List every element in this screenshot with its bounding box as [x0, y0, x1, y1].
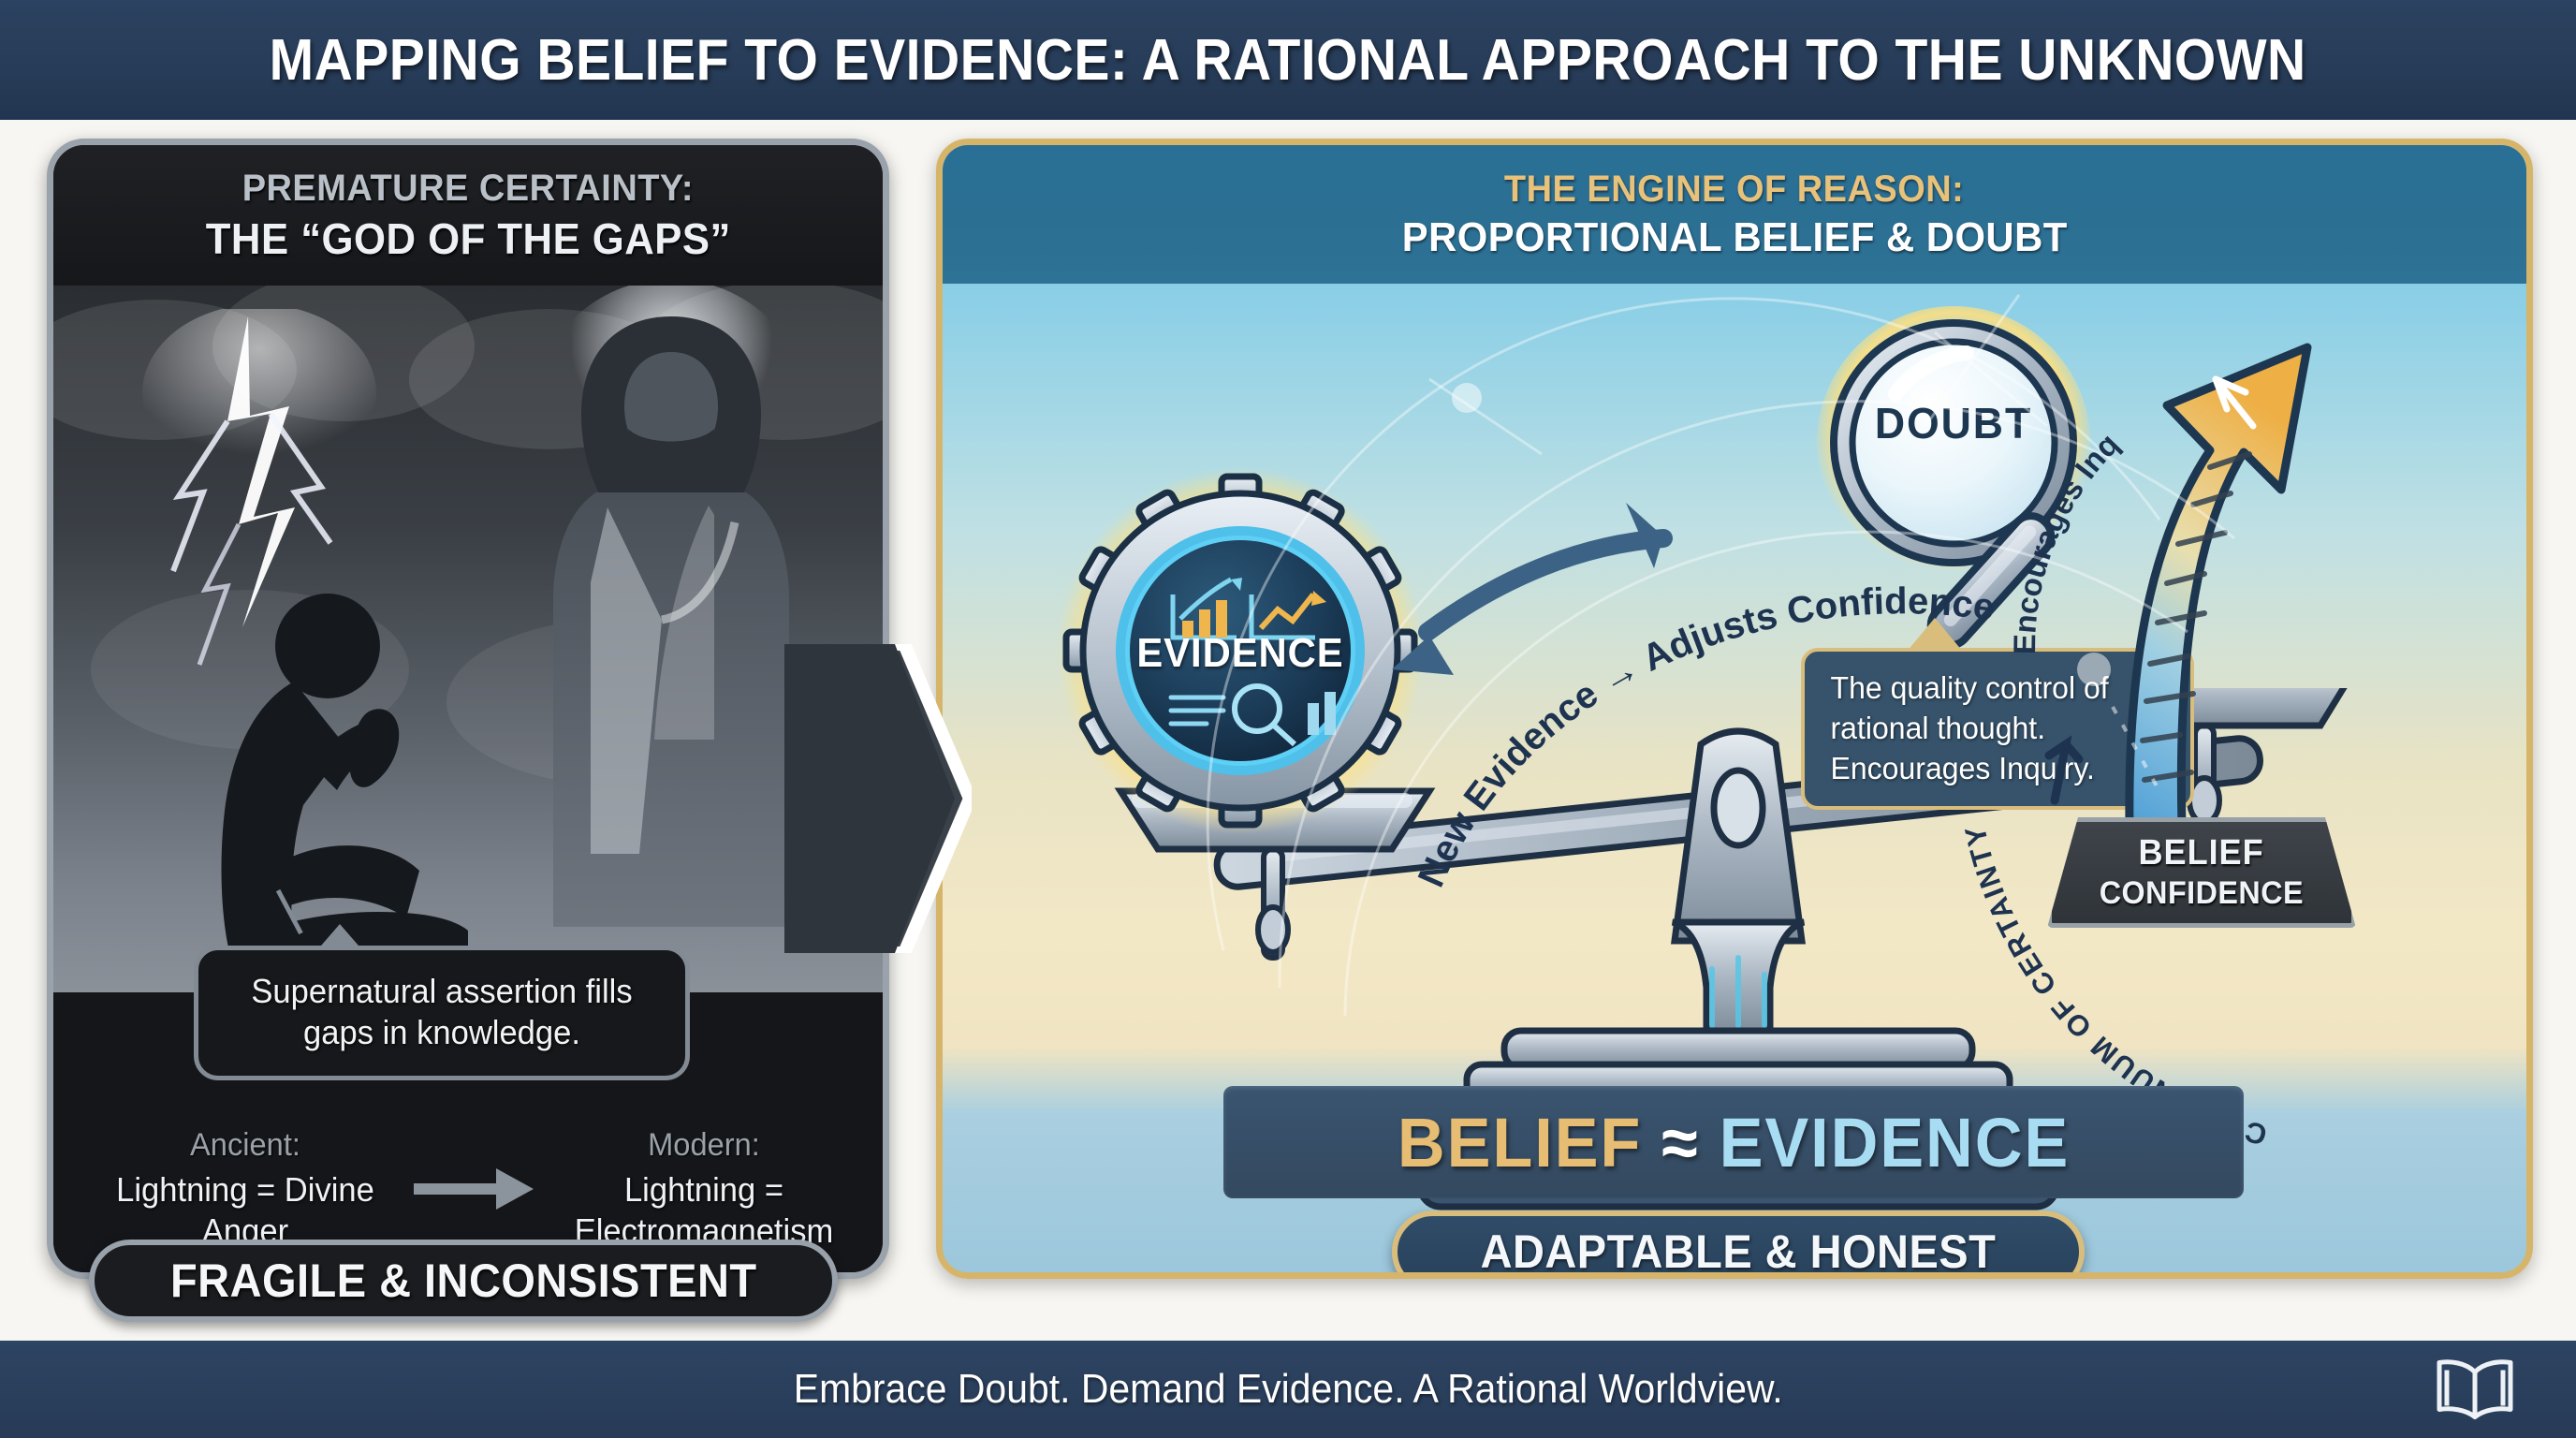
evidence-node[interactable]: EVIDENCE — [1053, 463, 1427, 838]
belief-gauge-line1: BELIEF — [2139, 833, 2264, 873]
left-panel-heading: PREMATURE CERTAINTY: THE “GOD OF THE GAP… — [53, 145, 883, 286]
transition-arrow-icon — [784, 644, 972, 953]
left-panel-scene — [53, 281, 883, 992]
doubt-caption-tail — [1907, 618, 1963, 652]
right-panel-heading: THE ENGINE OF REASON: PROPORTIONAL BELIE… — [943, 145, 2526, 284]
callout-text: Supernatural assertion fills gaps in kno… — [231, 971, 651, 1053]
belief-gauge-line2: CONFIDENCE — [2100, 875, 2304, 912]
equation-left: BELIEF — [1398, 1104, 1642, 1181]
left-panel-badge-label: FRAGILE & INCONSISTENT — [170, 1254, 757, 1308]
right-arrow-icon — [414, 1163, 535, 1215]
left-panel-heading-line2: THE “GOD OF THE GAPS” — [205, 213, 730, 264]
comparison-arrow — [409, 1163, 540, 1215]
right-panel-badge-label: ADAPTABLE & HONEST — [1481, 1225, 1997, 1279]
belief-confidence-gauge: BELIEF CONFIDENCE — [2047, 817, 2356, 928]
right-panel-heading-line1: THE ENGINE OF REASON: — [1504, 169, 1964, 211]
ancient-value: Lightning = Divine Anger — [97, 1169, 394, 1250]
page-header: MAPPING BELIEF TO EVIDENCE: A RATIONAL A… — [0, 0, 2576, 120]
right-panel-engine-of-reason: New Evidence → Adjusts Confidence Encour… — [936, 139, 2533, 1279]
right-panel-badge: ADAPTABLE & HONEST — [1392, 1211, 2085, 1279]
left-panel-badge: FRAGILE & INCONSISTENT — [89, 1240, 838, 1322]
ancient-column: Ancient: Lightning = Divine Anger — [91, 1127, 400, 1250]
equation-text: BELIEF≈EVIDENCE — [1398, 1103, 2070, 1182]
belief-equals-evidence-plate: BELIEF≈EVIDENCE — [1223, 1086, 2244, 1198]
modern-label: Modern: — [556, 1127, 853, 1164]
modern-value: Lightning = Electromagnetism — [556, 1169, 853, 1250]
page-footer: Embrace Doubt. Demand Evidence. A Ration… — [0, 1341, 2576, 1438]
equation-symbol: ≈ — [1661, 1104, 1699, 1181]
upward-gradient-arrow-icon — [2027, 293, 2401, 855]
footer-tagline: Embrace Doubt. Demand Evidence. A Ration… — [794, 1366, 1783, 1413]
open-book-icon — [2430, 1352, 2520, 1428]
page-title: MAPPING BELIEF TO EVIDENCE: A RATIONAL A… — [270, 27, 2306, 94]
modern-column: Modern: Lightning = Electromagnetism — [549, 1127, 858, 1250]
right-panel-heading-line2: PROPORTIONAL BELIEF & DOUBT — [1401, 214, 2067, 261]
bidirectional-arrow-icon — [1392, 503, 1663, 675]
gear-with-magnifier-icon — [1053, 463, 1427, 838]
infographic-canvas: PREMATURE CERTAINTY: THE “GOD OF THE GAP… — [0, 120, 2576, 1341]
left-panel-premature-certainty: PREMATURE CERTAINTY: THE “GOD OF THE GAP… — [47, 139, 889, 1279]
ancient-label: Ancient: — [97, 1127, 394, 1164]
supernatural-assertion-callout: Supernatural assertion fills gaps in kno… — [194, 946, 690, 1080]
left-panel-heading-line1: PREMATURE CERTAINTY: — [242, 168, 694, 210]
equation-right: EVIDENCE — [1720, 1104, 2071, 1181]
